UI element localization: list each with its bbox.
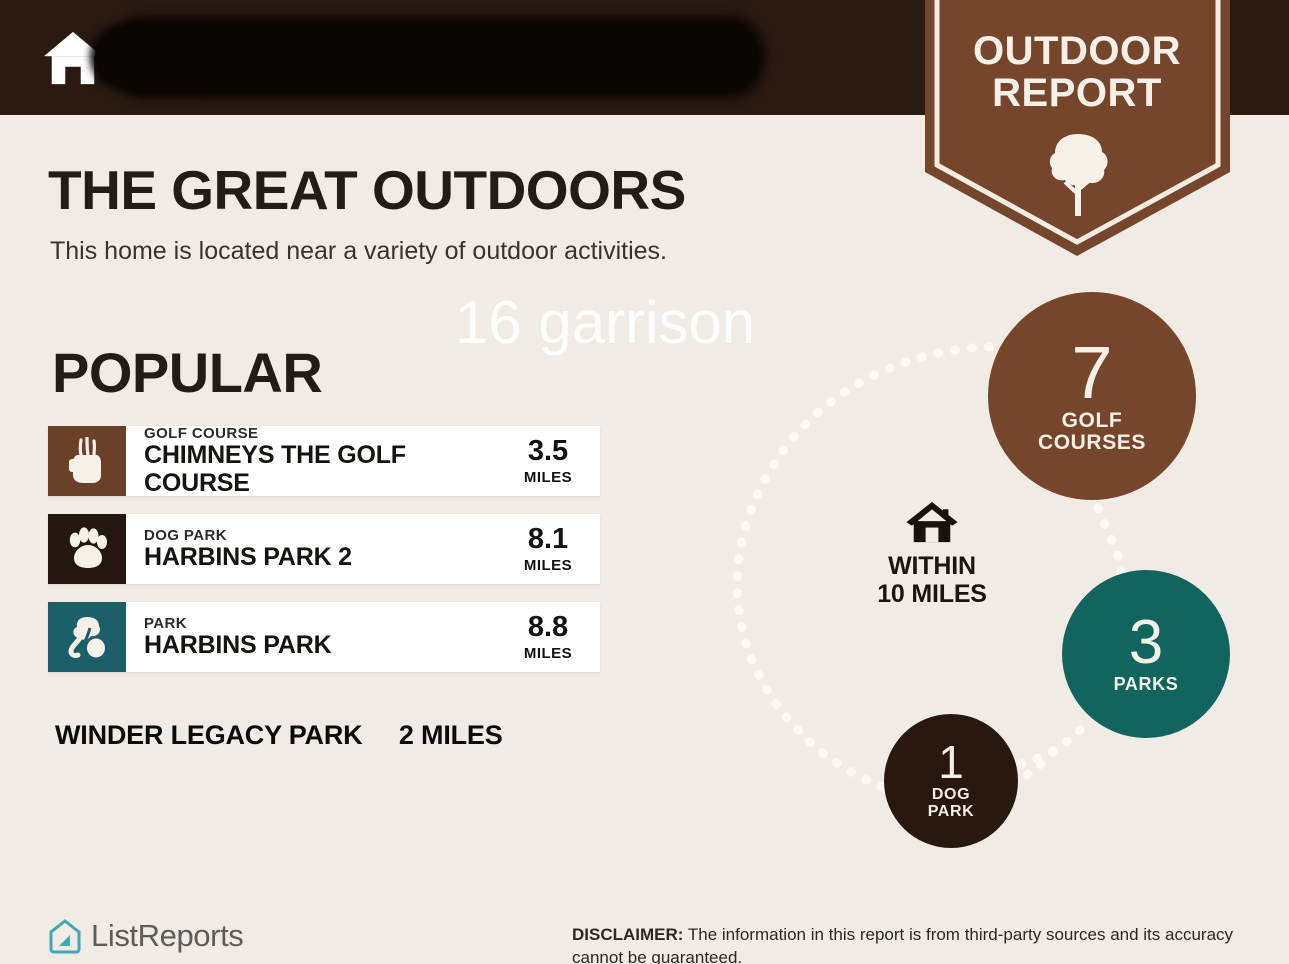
item-category: DOG PARK	[144, 527, 502, 544]
within-label-line1: WITHIN	[856, 552, 1008, 580]
item-distance-unit: MILES	[524, 645, 572, 662]
stat-count: 3	[1129, 614, 1163, 673]
stat-label-line1: GOLF	[1062, 410, 1123, 432]
stat-bubble-golf-courses[interactable]: 7 GOLF COURSES	[988, 292, 1196, 500]
item-icon-tile	[48, 426, 126, 496]
item-distance: 3.5 MILES	[502, 426, 600, 496]
within-label-line2: 10 MILES	[856, 580, 1008, 608]
listreports-brand-text: ListReports	[91, 918, 243, 954]
item-name: CHIMNEYS THE GOLF COURSE	[144, 442, 502, 497]
item-distance: 8.8 MILES	[502, 602, 600, 672]
badge-line-1: OUTDOOR	[973, 29, 1181, 73]
item-distance: 8.1 MILES	[502, 514, 600, 584]
disclaimer-label: DISCLAIMER:	[572, 925, 683, 944]
home-icon	[906, 502, 958, 544]
page-subtitle: This home is located near a variety of o…	[50, 237, 667, 266]
paw-print-icon	[64, 527, 110, 571]
manual-annotation: WINDER LEGACY PARK 2 MILES	[55, 720, 503, 751]
list-item[interactable]: DOG PARK HARBINS PARK 2 8.1 MILES	[48, 514, 600, 584]
badge-line-2: REPORT	[992, 71, 1162, 115]
stat-count: 1	[938, 741, 964, 785]
item-distance-value: 8.8	[528, 613, 568, 642]
stat-bubble-dog-park[interactable]: 1 DOG PARK	[884, 714, 1018, 848]
list-item[interactable]: PARK HARBINS PARK 8.8 MILES	[48, 602, 600, 672]
listreports-house-icon	[48, 918, 82, 954]
item-name: HARBINS PARK	[144, 632, 502, 660]
popular-list: GOLF COURSE CHIMNEYS THE GOLF COURSE 3.5…	[48, 426, 600, 690]
address-redaction-mark-2	[95, 30, 215, 84]
within-radius-marker: WITHIN 10 MILES	[856, 502, 1008, 608]
item-distance-value: 3.5	[528, 437, 568, 466]
item-category: GOLF COURSE	[144, 425, 502, 442]
item-distance-unit: MILES	[524, 469, 572, 486]
item-icon-tile	[48, 514, 126, 584]
stat-count: 7	[1071, 338, 1112, 408]
list-item[interactable]: GOLF COURSE CHIMNEYS THE GOLF COURSE 3.5…	[48, 426, 600, 496]
stat-label-line1: DOG	[932, 787, 970, 804]
popular-heading: POPULAR	[52, 340, 322, 405]
page-title: THE GREAT OUTDOORS	[48, 158, 686, 222]
item-category: PARK	[144, 615, 502, 632]
item-icon-tile	[48, 602, 126, 672]
outdoor-report-page: 6 GARRISON DRIVE, WINDER, GA, 30680 OUTD…	[0, 0, 1289, 964]
listreports-logo[interactable]: ListReports	[48, 918, 243, 954]
item-distance-value: 8.1	[528, 525, 568, 554]
item-distance-unit: MILES	[524, 557, 572, 574]
stat-bubble-parks[interactable]: 3 PARKS	[1062, 570, 1230, 738]
golf-bag-icon	[65, 437, 109, 485]
stat-label-line2: COURSES	[1038, 432, 1146, 454]
item-name: HARBINS PARK 2	[144, 544, 502, 572]
park-tree-icon	[63, 614, 111, 660]
stat-label-line2: PARK	[928, 804, 975, 821]
outdoor-report-badge: OUTDOOR REPORT	[925, 0, 1230, 256]
disclaimer: DISCLAIMER: The information in this repo…	[572, 924, 1262, 964]
stat-label-line1: PARKS	[1114, 675, 1179, 694]
